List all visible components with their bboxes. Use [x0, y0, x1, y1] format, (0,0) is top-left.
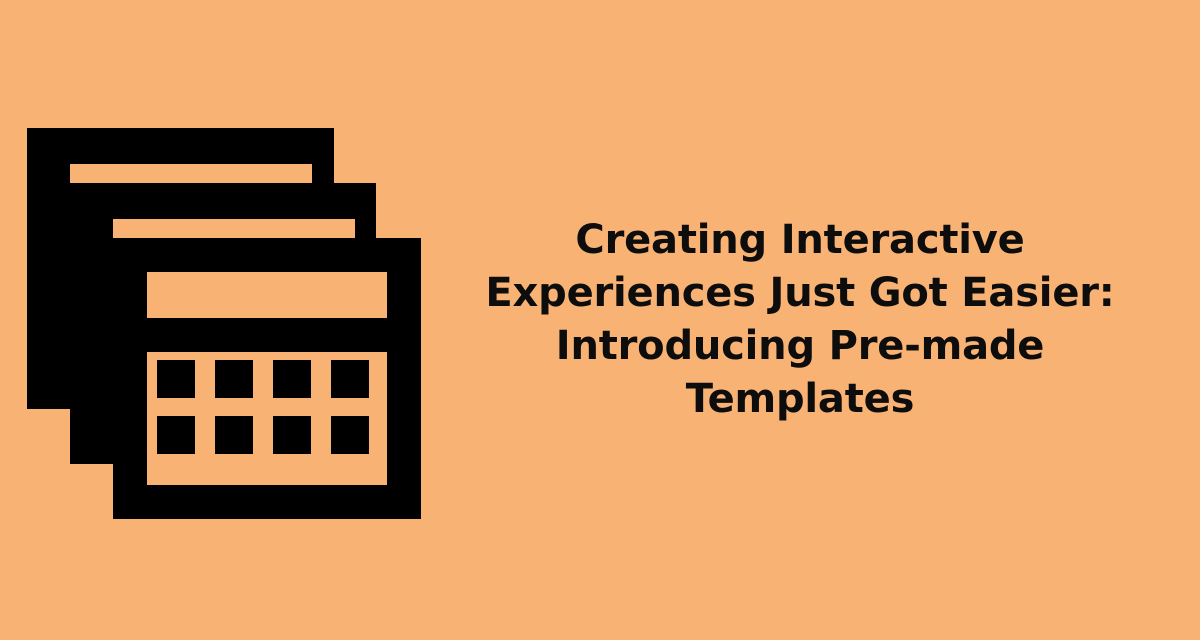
headline-line-1: Creating Interactive	[470, 214, 1130, 267]
stacked-templates-icon	[27, 128, 421, 519]
headline-line-2: Experiences Just Got Easier:	[470, 267, 1130, 320]
headline-block: Creating Interactive Experiences Just Go…	[470, 0, 1130, 640]
headline-line-4: Templates	[470, 373, 1130, 426]
page-title: Creating Interactive Experiences Just Go…	[470, 214, 1130, 425]
headline-line-3: Introducing Pre-made	[470, 320, 1130, 373]
icon-area	[0, 0, 470, 640]
blog-post-banner: Creating Interactive Experiences Just Go…	[0, 0, 1200, 640]
